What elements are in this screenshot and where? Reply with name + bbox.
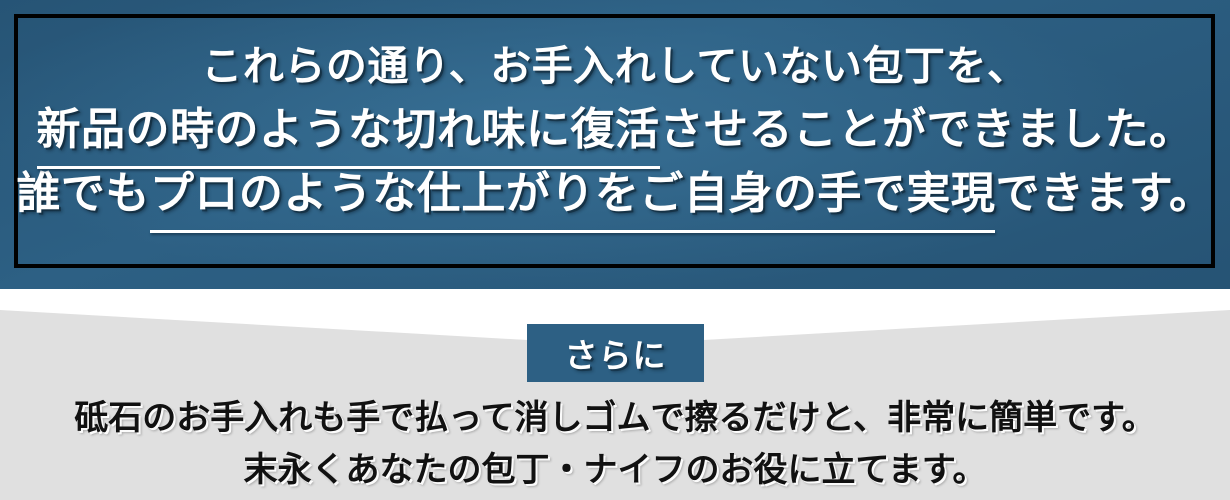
- hero-line3-suffix: できます。: [995, 169, 1213, 218]
- lower-section: さらに 砥石のお手入れも手で払って消しゴムで擦るだけと、非常に簡単です。 末永く…: [0, 289, 1230, 500]
- lower-line-1: 砥石のお手入れも手で払って消しゴムで擦るだけと、非常に簡単です。: [0, 392, 1230, 444]
- hero-headline-block: これらの通り、お手入れしていない包丁を、 新品の時のような切れ味に復活させること…: [0, 34, 1230, 226]
- sarani-badge-label: さらに: [527, 324, 704, 382]
- lower-line-2: 末永くあなたの包丁・ナイフのお役に立てます。: [0, 444, 1230, 496]
- hero-banner: これらの通り、お手入れしていない包丁を、 新品の時のような切れ味に復活させること…: [0, 0, 1230, 289]
- hero-headline-line-1: これらの通り、お手入れしていない包丁を、: [0, 34, 1230, 98]
- lower-text-block: 砥石のお手入れも手で払って消しゴムで擦るだけと、非常に簡単です。 末永くあなたの…: [0, 392, 1230, 496]
- hero-line2-emphasis: 新品の時のような切れ味に復活: [37, 98, 660, 162]
- hero-headline-line-2: 新品の時のような切れ味に復活させることができました。: [0, 98, 1230, 162]
- hero-headline-line-3: 誰でもプロのような仕上がりをご自身の手で実現できます。: [0, 162, 1230, 226]
- hero-line2-rest: させることができました。: [660, 105, 1194, 154]
- hero-line1-text: これらの通り、お手入れしていない包丁を、: [201, 43, 1028, 89]
- hero-line3-prefix: 誰でも: [16, 169, 150, 218]
- sarani-badge: さらに: [527, 324, 704, 382]
- hero-line3-emphasis: プロのような仕上がりをご自身の手で実現: [150, 162, 996, 226]
